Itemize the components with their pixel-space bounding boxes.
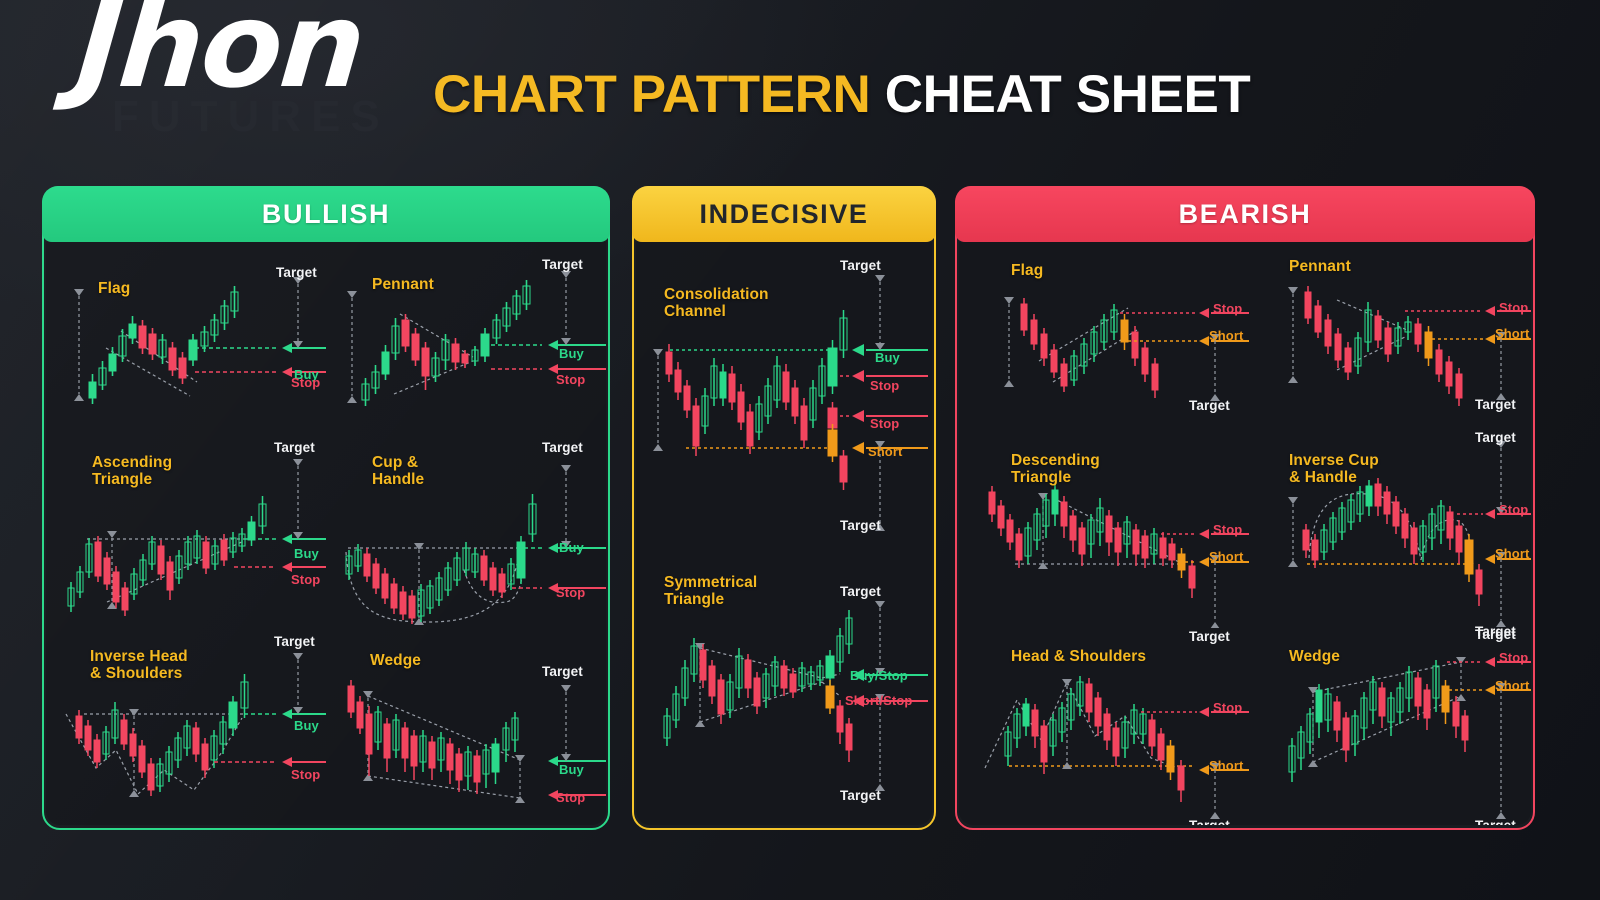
panel-bearish-heading: BEARISH xyxy=(955,186,1535,242)
pattern-title: Inverse Head & Shoulders xyxy=(90,648,188,683)
pattern-title: Head & Shoulders xyxy=(1011,648,1146,665)
pattern-title: Wedge xyxy=(370,652,421,669)
panel-indecisive: INDECISIVE Consolidation Channel Target … xyxy=(632,186,936,830)
pattern-title: Consolidation Channel xyxy=(664,286,769,321)
pattern-cell-bearish-inverse-cup-handle[interactable]: Inverse Cup & Handle Target Stop Short T… xyxy=(1251,434,1531,628)
marker-target: Target xyxy=(276,265,317,280)
marker-stop-long: Stop xyxy=(870,378,899,393)
marker-target-bottom: Target xyxy=(840,518,881,533)
pattern-title: Pennant xyxy=(372,276,434,293)
marker-buy: Buy xyxy=(294,718,319,733)
pattern-title: Inverse Cup & Handle xyxy=(1289,452,1379,487)
title-accent: CHART PATTERN xyxy=(433,65,870,124)
marker-buy: Buy xyxy=(294,546,319,561)
pattern-title: Ascending Triangle xyxy=(92,454,172,489)
marker-target: Target xyxy=(542,440,583,455)
marker-target-top: Target xyxy=(840,584,881,599)
marker-target: Target xyxy=(542,257,583,272)
marker-short: Short xyxy=(868,444,902,459)
pattern-title: Pennant xyxy=(1289,258,1351,275)
pattern-cell-bearish-descending-triangle[interactable]: Descending Triangle Stop Short Target xyxy=(965,434,1249,628)
marker-stop: Stop xyxy=(1499,502,1528,517)
marker-target: Target xyxy=(542,664,583,679)
marker-target: Target xyxy=(274,440,315,455)
pattern-cell-bullish-flag[interactable]: Flag Target Buy Stop xyxy=(54,248,326,438)
marker-stop: Stop xyxy=(1213,700,1242,715)
marker-target-top: Target xyxy=(1475,430,1516,445)
pattern-cell-consolidation-channel[interactable]: Consolidation Channel Target Buy Stop St… xyxy=(640,248,928,548)
panel-indecisive-content: Consolidation Channel Target Buy Stop St… xyxy=(636,242,932,825)
pattern-cell-bullish-ascending-triangle[interactable]: Ascending Triangle Target Buy Stop xyxy=(54,442,326,632)
marker-stop: Stop xyxy=(1499,650,1528,665)
brand-subtitle: FUTURES xyxy=(112,92,390,142)
marker-target-bottom: Target xyxy=(840,788,881,803)
pattern-cell-bullish-wedge[interactable]: Wedge Target Buy Stop xyxy=(334,632,606,822)
marker-short: Short xyxy=(1495,326,1529,341)
marker-stop: Stop xyxy=(556,585,585,600)
marker-stop-short: Stop xyxy=(870,416,899,431)
pattern-cell-bearish-flag[interactable]: Flag Stop Short Target xyxy=(965,248,1249,434)
marker-stop: Stop xyxy=(556,372,585,387)
marker-buy: Buy xyxy=(559,540,584,555)
candlestick-chart xyxy=(965,434,1249,628)
pattern-cell-bearish-wedge[interactable]: Wedge Target Stop Short Target xyxy=(1251,628,1531,822)
marker-short: Short xyxy=(1209,758,1243,773)
marker-stop: Stop xyxy=(291,572,320,587)
cheat-sheet-canvas: Jhon FUTURES CHART PATTERN CHEAT SHEET B… xyxy=(0,0,1600,900)
pattern-title: Flag xyxy=(1011,262,1043,279)
panel-bearish: BEARISH Flag Stop Short Target xyxy=(955,186,1535,830)
marker-target: Target xyxy=(1189,818,1230,825)
pattern-title: Wedge xyxy=(1289,648,1340,665)
pattern-title: Cup & Handle xyxy=(372,454,424,489)
pattern-title: Descending Triangle xyxy=(1011,452,1100,487)
pattern-title: Symmetrical Triangle xyxy=(664,574,757,609)
marker-short: Short xyxy=(1209,549,1243,564)
pattern-cell-bearish-head-shoulders[interactable]: Head & Shoulders Stop Short Target xyxy=(965,628,1249,822)
panel-bullish: BULLISH Flag Target Buy Stop xyxy=(42,186,610,830)
marker-buy: Buy xyxy=(875,350,900,365)
marker-stop: Stop xyxy=(1213,522,1242,537)
pattern-cell-symmetrical-triangle[interactable]: Symmetrical Triangle Target Buy/Stop Sho… xyxy=(640,556,928,816)
panel-bearish-content: Flag Stop Short Target xyxy=(959,242,1531,825)
marker-target: Target xyxy=(1475,397,1516,412)
marker-target: Target xyxy=(274,634,315,649)
panel-bullish-heading: BULLISH xyxy=(42,186,610,242)
marker-buy: Buy xyxy=(559,762,584,777)
marker-short: Short xyxy=(1495,678,1529,693)
pattern-title: Flag xyxy=(98,280,130,297)
marker-target-top: Target xyxy=(1475,624,1516,639)
marker-stop: Stop xyxy=(291,767,320,782)
marker-stop: Stop xyxy=(1499,300,1528,315)
pattern-cell-bullish-inverse-head-shoulders[interactable]: Inverse Head & Shoulders Target Buy Stop xyxy=(54,632,326,822)
marker-short: Short xyxy=(1495,546,1529,561)
page-title: CHART PATTERN CHEAT SHEET xyxy=(433,64,1250,125)
marker-target-bottom: Target xyxy=(1475,818,1516,825)
title-plain: CHEAT SHEET xyxy=(885,65,1251,124)
marker-stop: Stop xyxy=(1213,301,1242,316)
panel-indecisive-heading: INDECISIVE xyxy=(632,186,936,242)
brand-logo: Jhon xyxy=(73,0,368,104)
pattern-cell-bearish-pennant[interactable]: Pennant Stop Short Target xyxy=(1251,248,1531,434)
marker-stop: Stop xyxy=(556,790,585,805)
marker-buy-stop: Buy/Stop xyxy=(850,668,908,683)
marker-buy: Buy xyxy=(559,346,584,361)
marker-short-stop: Short/Stop xyxy=(845,693,912,708)
marker-target-top: Target xyxy=(840,258,881,273)
marker-stop: Stop xyxy=(291,375,320,390)
pattern-cell-bullish-cup-handle[interactable]: Cup & Handle Target Buy Stop xyxy=(334,442,606,632)
panel-bullish-content: Flag Target Buy Stop xyxy=(46,242,606,825)
marker-target: Target xyxy=(1189,398,1230,413)
marker-target: Target xyxy=(1189,629,1230,644)
pattern-cell-bullish-pennant[interactable]: Pennant Target Buy Stop xyxy=(334,248,606,438)
marker-short: Short xyxy=(1209,328,1243,343)
